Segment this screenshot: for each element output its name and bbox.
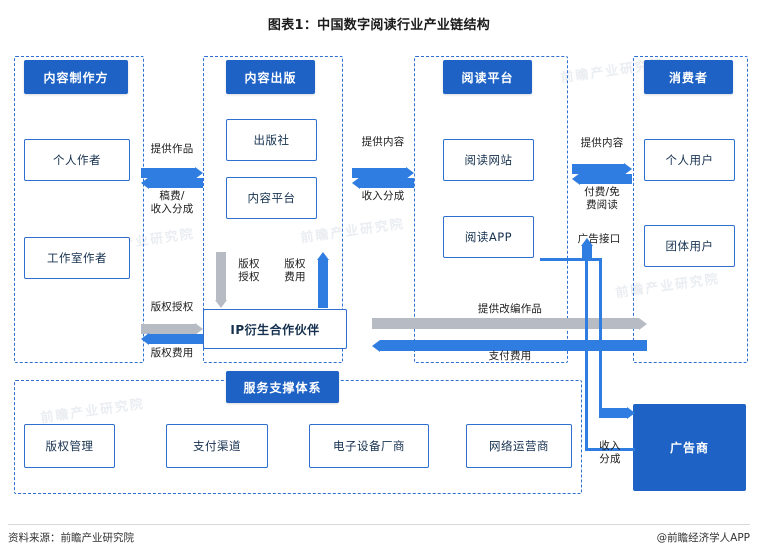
node-studio-author[interactable]: 工作室作者 bbox=[24, 237, 130, 279]
node-network-operator[interactable]: 网络运营商 bbox=[466, 424, 572, 468]
node-individual-author[interactable]: 个人作者 bbox=[24, 139, 130, 181]
footer-divider bbox=[8, 524, 750, 525]
label-provide-works: 提供作品 bbox=[133, 143, 211, 156]
node-copyright-mgmt[interactable]: 版权管理 bbox=[24, 424, 115, 468]
label-copyright-fee-horizontal: 版权费用 bbox=[133, 347, 211, 360]
node-publisher[interactable]: 出版社 bbox=[226, 119, 317, 161]
source-note: 资料来源：前瞻产业研究院 bbox=[8, 530, 134, 545]
arrow-provide-adapted-works bbox=[372, 318, 647, 329]
header-content-publish[interactable]: 内容出版 bbox=[226, 60, 315, 94]
node-content-platform[interactable]: 内容平台 bbox=[226, 177, 317, 219]
header-service-system[interactable]: 服务支撑体系 bbox=[226, 371, 339, 403]
label-pay-fee: 支付费用 bbox=[430, 350, 590, 363]
label-copyright-grant-vertical: 版权 授权 bbox=[229, 258, 269, 284]
label-provide-adapted-works: 提供改编作品 bbox=[430, 303, 590, 316]
arrow-advertiser-income-share bbox=[582, 238, 592, 258]
label-copyright-grant-horizontal: 版权授权 bbox=[133, 301, 211, 314]
label-income-share-ad: 收入 分成 bbox=[588, 440, 632, 466]
label-copyright-fee-vertical: 版权 费用 bbox=[275, 258, 315, 284]
node-advertiser[interactable]: 广告商 bbox=[633, 404, 746, 491]
node-reading-app[interactable]: 阅读APP bbox=[443, 216, 534, 258]
label-income-share: 收入分成 bbox=[344, 190, 422, 203]
arrow-copyright-grant-vertical bbox=[216, 252, 226, 308]
arrow-copyright-grant-horizontal bbox=[141, 324, 203, 334]
arrow-copyright-fee-vertical bbox=[318, 252, 328, 308]
node-device-maker[interactable]: 电子设备厂商 bbox=[309, 424, 429, 468]
group-reading-platform bbox=[414, 56, 568, 363]
brand-note: @前瞻经济学人APP bbox=[657, 530, 750, 545]
node-payment-channel[interactable]: 支付渠道 bbox=[166, 424, 268, 468]
node-individual-user[interactable]: 个人用户 bbox=[644, 139, 735, 181]
arrow-copyright-fee-horizontal bbox=[141, 334, 203, 344]
node-group-user[interactable]: 团体用户 bbox=[644, 225, 735, 267]
arrow-platform-to-advertiser bbox=[599, 408, 635, 418]
header-content-creator[interactable]: 内容制作方 bbox=[24, 60, 128, 94]
label-provide-content-2: 提供内容 bbox=[563, 137, 641, 150]
label-fee-share: 稿费/ 收入分成 bbox=[133, 190, 211, 216]
connector-platform-to-advertiser-vertical bbox=[599, 258, 602, 413]
page-title: 图表1：中国数字阅读行业产业链结构 bbox=[0, 14, 758, 33]
arrow-provide-content-1 bbox=[352, 168, 414, 178]
connector-advertiser-income-vertical bbox=[585, 250, 588, 450]
label-provide-content-1: 提供内容 bbox=[344, 136, 422, 149]
group-content-creator bbox=[14, 56, 144, 363]
node-ip-partner[interactable]: IP衍生合作伙伴 bbox=[203, 309, 347, 349]
arrow-fee-share bbox=[141, 178, 203, 188]
label-ad-interface: 广告接口 bbox=[559, 233, 639, 246]
arrow-provide-content-2 bbox=[572, 164, 632, 174]
arrow-provide-works bbox=[141, 168, 203, 178]
arrow-income-share bbox=[352, 178, 414, 188]
node-reading-website[interactable]: 阅读网站 bbox=[443, 139, 534, 181]
header-reading-platform[interactable]: 阅读平台 bbox=[443, 60, 532, 94]
diagram-canvas: 图表1：中国数字阅读行业产业链结构 前瞻产业研究院 前瞻产业研究院 前瞻产业研究… bbox=[0, 0, 758, 555]
connector-platform-to-advertiser-horizontal bbox=[540, 258, 602, 261]
group-consumer bbox=[633, 56, 748, 363]
arrow-pay-free-read bbox=[572, 174, 632, 184]
header-consumer[interactable]: 消费者 bbox=[644, 60, 733, 94]
label-pay-free-read: 付费/免 费阅读 bbox=[563, 186, 641, 212]
